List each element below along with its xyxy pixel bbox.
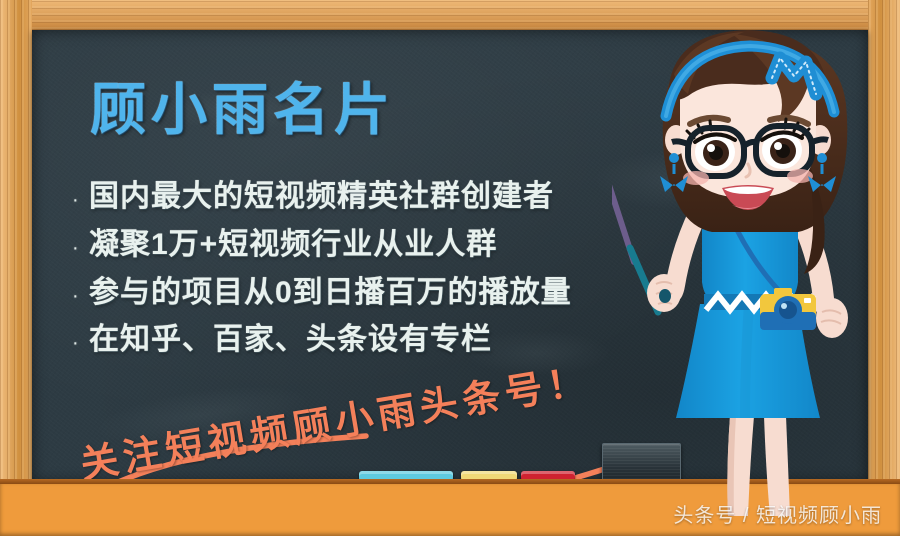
- right-hand: [816, 298, 848, 338]
- list-item-label: 国内最大的短视频精英社群创建者: [89, 180, 554, 215]
- page-title: 顾小雨名片: [90, 82, 395, 138]
- bullet-marker-icon: ·: [72, 332, 89, 355]
- list-item: · 凝聚1万+短视频行业从业人群: [72, 228, 692, 263]
- bullet-marker-icon: ·: [72, 189, 89, 212]
- list-item-label: 参与的项目从0到日播百万的播放量: [89, 276, 572, 311]
- blackboard-poster: 顾小雨名片 · 国内最大的短视频精英社群创建者 · 凝聚1万+短视频行业从业人群…: [0, 0, 900, 536]
- camera-icon: [760, 288, 816, 330]
- frame-left-rail: [0, 0, 32, 536]
- list-item-label: 在知乎、百家、头条设有专栏: [89, 323, 492, 358]
- cartoon-girl-teacher: [612, 12, 900, 524]
- list-item-label: 凝聚1万+短视频行业从业人群: [89, 228, 497, 263]
- list-item: · 国内最大的短视频精英社群创建者: [72, 180, 692, 215]
- bullet-marker-icon: ·: [72, 285, 89, 308]
- blush-right: [787, 169, 813, 183]
- bullet-list: · 国内最大的短视频精英社群创建者 · 凝聚1万+短视频行业从业人群 · 参与的…: [72, 180, 692, 371]
- watermark: 头条号 / 短视频顾小雨: [673, 499, 882, 528]
- hand-grip: [647, 274, 681, 312]
- bullet-marker-icon: ·: [72, 237, 89, 260]
- list-item: · 参与的项目从0到日播百万的播放量: [72, 276, 692, 311]
